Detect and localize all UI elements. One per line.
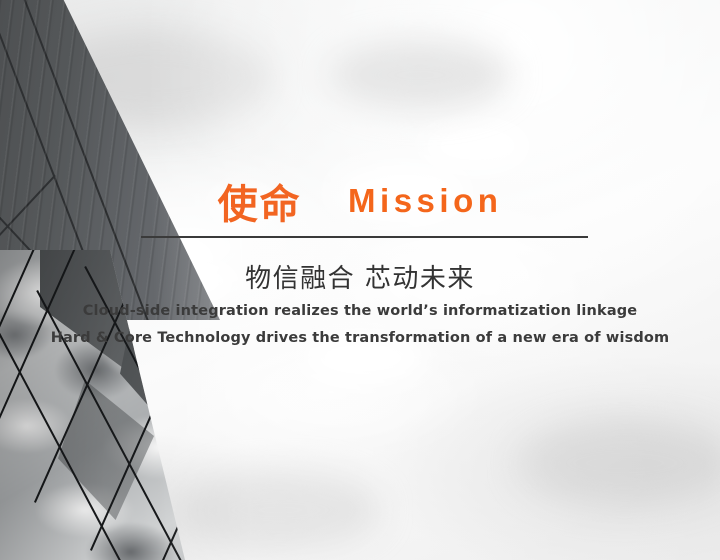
subtitle-chinese: 物信融合 芯动未来	[0, 258, 720, 295]
heading-chinese: 使命	[218, 182, 302, 228]
banner-content: 使命 Mission 物信融合 芯动未来 Cloud-side integrat…	[0, 0, 720, 560]
heading-divider	[141, 236, 588, 238]
mission-banner: 使命 Mission 物信融合 芯动未来 Cloud-side integrat…	[0, 0, 720, 560]
tagline-line-2: Hard & Core Technology drives the transf…	[0, 330, 720, 346]
banner-heading: 使命 Mission	[0, 172, 720, 230]
tagline-line-1: Cloud-side integration realizes the worl…	[0, 303, 720, 319]
heading-english: Mission	[348, 182, 502, 219]
